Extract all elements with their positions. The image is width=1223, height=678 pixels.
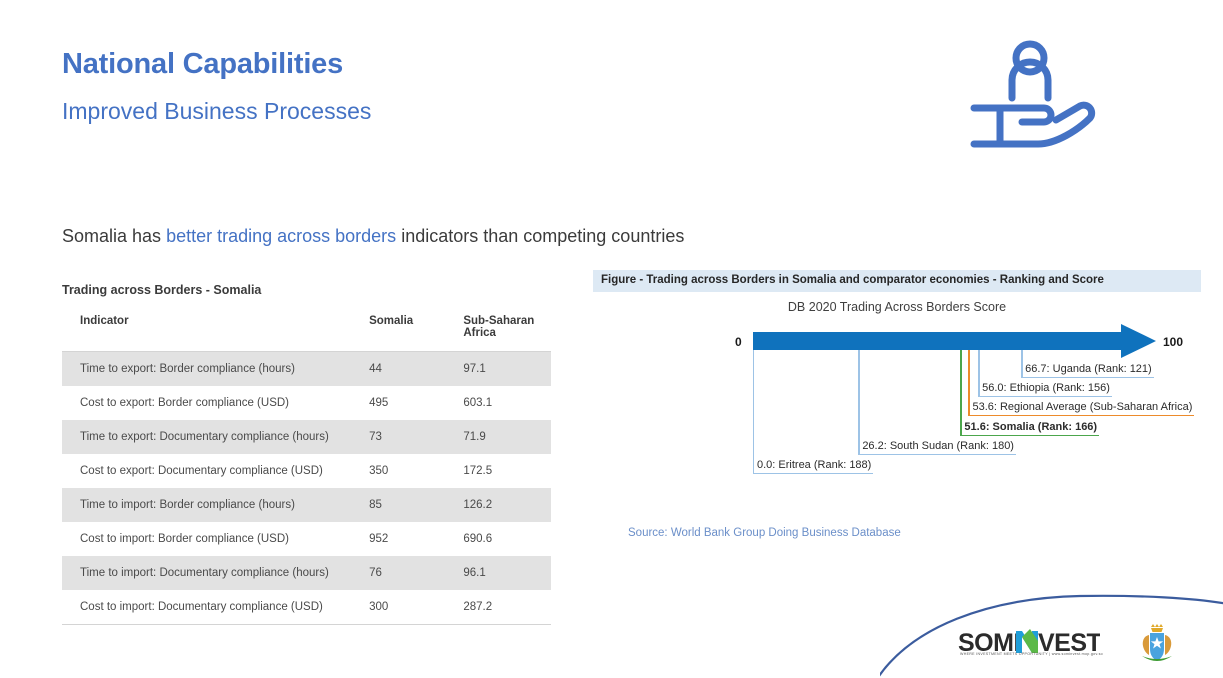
marker-underline bbox=[978, 396, 1112, 397]
source-note: Source: World Bank Group Doing Business … bbox=[628, 527, 901, 539]
marker-leader-line bbox=[978, 350, 979, 396]
score-scale-arrowhead bbox=[1121, 324, 1156, 358]
axis-label-min: 0 bbox=[735, 335, 742, 349]
cell-somalia: 76 bbox=[357, 556, 451, 590]
marker-underline bbox=[753, 473, 873, 474]
marker-underline bbox=[968, 415, 1194, 416]
cell-indicator: Cost to import: Documentary compliance (… bbox=[62, 590, 357, 625]
cell-indicator: Time to import: Border compliance (hours… bbox=[62, 488, 357, 522]
cell-somalia: 300 bbox=[357, 590, 451, 625]
table-row: Cost to export: Border compliance (USD)4… bbox=[62, 386, 551, 420]
marker-leader-line bbox=[858, 350, 859, 454]
logo-tagline: WHERE INVESTMENT MEETS OPPORTUNITY | www… bbox=[960, 652, 1103, 656]
cell-sub-saharan-africa: 71.9 bbox=[451, 420, 551, 454]
marker-label: 56.0: Ethiopia (Rank: 156) bbox=[982, 382, 1110, 394]
table-body: Time to export: Border compliance (hours… bbox=[62, 352, 551, 625]
marker-underline bbox=[960, 435, 1099, 436]
marker-label: 66.7: Uganda (Rank: 121) bbox=[1025, 363, 1152, 375]
cell-indicator: Time to export: Documentary compliance (… bbox=[62, 420, 357, 454]
cell-somalia: 85 bbox=[357, 488, 451, 522]
table-row: Cost to import: Documentary compliance (… bbox=[62, 590, 551, 625]
marker-underline bbox=[858, 454, 1016, 455]
column-header-sub-saharan-africa: Sub-Saharan Africa bbox=[451, 306, 551, 352]
cell-indicator: Cost to import: Border compliance (USD) bbox=[62, 522, 357, 556]
cell-indicator: Cost to export: Documentary compliance (… bbox=[62, 454, 357, 488]
marker-leader-line bbox=[753, 350, 754, 473]
cell-somalia: 952 bbox=[357, 522, 451, 556]
column-header-indicator: Indicator bbox=[62, 306, 357, 352]
table-row: Cost to export: Documentary compliance (… bbox=[62, 454, 551, 488]
chart-title: DB 2020 Trading Across Borders Score bbox=[593, 300, 1201, 314]
page-subtitle: Improved Business Processes bbox=[62, 98, 371, 125]
figure-title: Figure - Trading across Borders in Somal… bbox=[601, 274, 1104, 286]
lead-after: indicators than competing countries bbox=[396, 226, 684, 246]
figure-title-band: Figure - Trading across Borders in Somal… bbox=[593, 270, 1201, 292]
lead-before: Somalia has bbox=[62, 226, 166, 246]
column-header-somalia: Somalia bbox=[357, 306, 451, 352]
cell-somalia: 44 bbox=[357, 352, 451, 387]
cell-sub-saharan-africa: 126.2 bbox=[451, 488, 551, 522]
axis-label-max: 100 bbox=[1163, 335, 1183, 349]
page-title: National Capabilities bbox=[62, 48, 343, 81]
table-row: Time to export: Documentary compliance (… bbox=[62, 420, 551, 454]
table-header-row: Indicator Somalia Sub-Saharan Africa bbox=[62, 306, 551, 352]
somalia-coat-of-arms-icon bbox=[1134, 622, 1180, 668]
table-row: Time to import: Documentary compliance (… bbox=[62, 556, 551, 590]
cell-somalia: 495 bbox=[357, 386, 451, 420]
cell-somalia: 73 bbox=[357, 420, 451, 454]
marker-underline bbox=[1021, 377, 1154, 378]
lead-highlight: better trading across borders bbox=[166, 226, 396, 246]
cell-sub-saharan-africa: 97.1 bbox=[451, 352, 551, 387]
marker-leader-line bbox=[960, 350, 961, 435]
cell-somalia: 350 bbox=[357, 454, 451, 488]
table-row: Cost to import: Border compliance (USD)9… bbox=[62, 522, 551, 556]
lead-sentence: Somalia has better trading across border… bbox=[62, 226, 684, 247]
cell-indicator: Time to import: Documentary compliance (… bbox=[62, 556, 357, 590]
marker-label: 53.6: Regional Average (Sub-Saharan Afri… bbox=[972, 401, 1192, 413]
marker-label: 26.2: South Sudan (Rank: 180) bbox=[862, 440, 1014, 452]
table-row: Time to import: Border compliance (hours… bbox=[62, 488, 551, 522]
cell-sub-saharan-africa: 603.1 bbox=[451, 386, 551, 420]
column-header-ssa-line1: Sub-Saharan bbox=[463, 315, 551, 327]
marker-leader-line bbox=[968, 350, 969, 415]
cell-sub-saharan-africa: 96.1 bbox=[451, 556, 551, 590]
table-row: Time to export: Border compliance (hours… bbox=[62, 352, 551, 387]
cell-sub-saharan-africa: 172.5 bbox=[451, 454, 551, 488]
column-header-ssa-line2: Africa bbox=[463, 327, 551, 339]
table-caption: Trading across Borders - Somalia bbox=[62, 283, 261, 297]
marker-label: 51.6: Somalia (Rank: 166) bbox=[964, 421, 1097, 433]
hand-holding-person-icon bbox=[960, 36, 1100, 156]
trading-across-borders-table: Indicator Somalia Sub-Saharan Africa Tim… bbox=[62, 306, 551, 625]
cell-indicator: Cost to export: Border compliance (USD) bbox=[62, 386, 357, 420]
marker-label: 0.0: Eritrea (Rank: 188) bbox=[757, 459, 871, 471]
cell-indicator: Time to export: Border compliance (hours… bbox=[62, 352, 357, 387]
score-scale-bar bbox=[753, 332, 1121, 350]
table-header: Indicator Somalia Sub-Saharan Africa bbox=[62, 306, 551, 352]
cell-sub-saharan-africa: 690.6 bbox=[451, 522, 551, 556]
cell-sub-saharan-africa: 287.2 bbox=[451, 590, 551, 625]
marker-leader-line bbox=[1021, 350, 1022, 377]
